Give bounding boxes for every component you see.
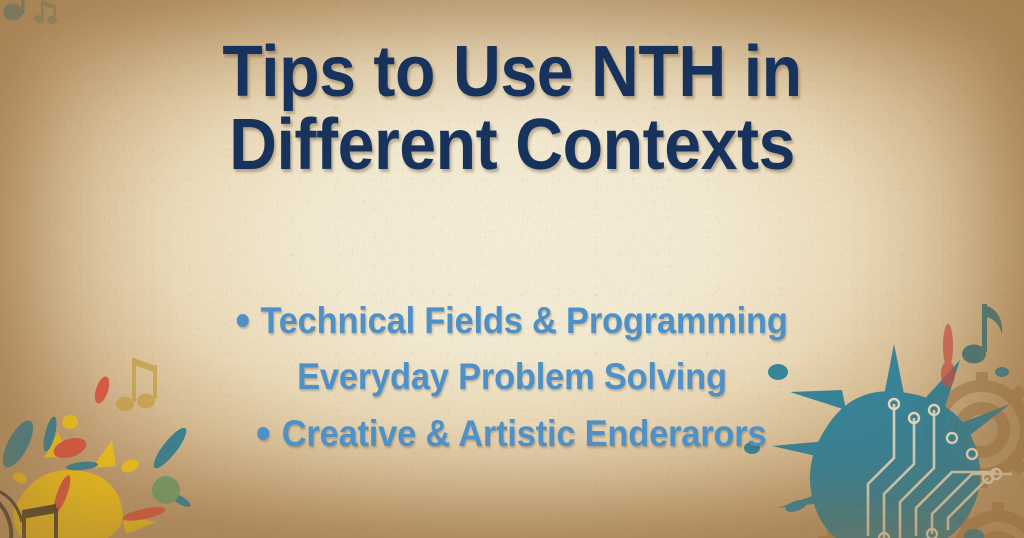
list-item-label: Everyday Problem Solving xyxy=(297,356,727,397)
slide-content: Tips to Use NTH in Different Contexts Te… xyxy=(0,0,1024,538)
slide-canvas: Tips to Use NTH in Different Contexts Te… xyxy=(0,0,1024,538)
bullet-dot-icon xyxy=(258,427,270,440)
list-item: Technical Fields & Programming xyxy=(36,293,988,349)
list-item: Everyday Problem Solving xyxy=(36,349,988,405)
list-item-label: Technical Fields & Programming xyxy=(260,300,787,341)
bullet-dot-icon xyxy=(236,314,248,327)
list-item: Creative & Artistic Enderarors xyxy=(36,406,988,462)
title-line-1: Tips to Use NTH in xyxy=(41,36,983,109)
bullet-list: Technical Fields & Programming Everyday … xyxy=(36,293,988,462)
page-title: Tips to Use NTH in Different Contexts xyxy=(41,36,983,183)
title-line-2: Different Contexts xyxy=(41,109,983,182)
list-item-label: Creative & Artistic Enderarors xyxy=(282,413,767,454)
